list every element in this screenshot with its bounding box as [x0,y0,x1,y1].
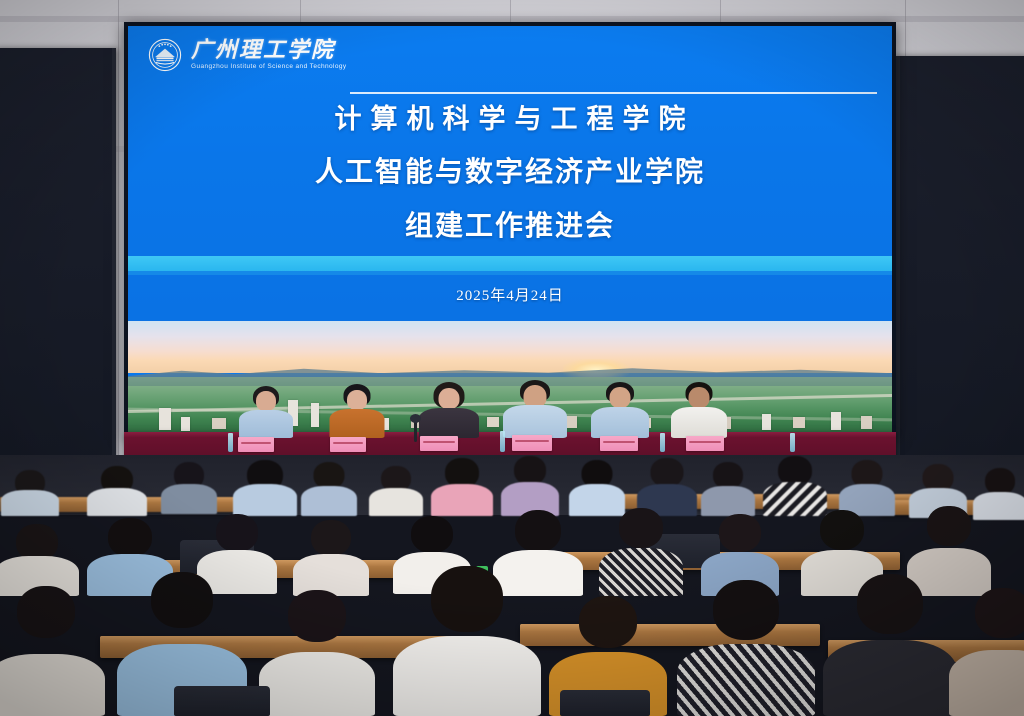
name-placard [330,437,366,452]
university-seal-icon [148,38,182,72]
attendee [0,470,60,516]
name-placard [512,435,552,451]
attendee [300,462,358,516]
panelist-1 [236,386,296,438]
acoustic-panel-right [896,56,1024,460]
attendee [762,456,828,516]
name-placard [420,436,458,451]
name-placard [238,437,274,452]
attendee [392,566,542,716]
attendee [822,574,958,716]
name-placard [600,436,638,451]
attendee [232,460,298,516]
attendee [86,466,148,516]
attendee [368,466,424,516]
water-bottle [660,433,665,452]
slide-title-line-1: 计算机科学与工程学院 [128,97,892,136]
acoustic-panel-left [0,48,116,460]
logo-name-cn: 广州理工学院 [191,39,347,61]
slide-date: 2025年4月24日 [128,284,892,305]
panelist-6 [668,382,730,438]
name-placard [686,436,724,451]
panelist-3 [416,382,482,438]
slide-title-line-2: 人工智能与数字经济产业学院 [128,150,892,190]
water-bottle [790,433,795,452]
attendee [160,462,218,514]
title-divider [350,92,877,94]
attendee [948,588,1024,716]
slide-titles: 计算机科学与工程学院 人工智能与数字经济产业学院 组建工作推进会 [128,97,892,244]
attendee [676,580,816,716]
microphone [414,420,417,442]
logo-name-en: Guangzhou Institute of Science and Techn… [191,64,347,71]
slide-accent-band-secondary [128,271,892,275]
slide-title-line-3: 组建工作推进会 [128,204,892,244]
university-logo: 广州理工学院 Guangzhou Institute of Science an… [148,38,347,72]
presentation-slide: 广州理工学院 Guangzhou Institute of Science an… [128,26,892,433]
attendee [838,460,896,516]
led-screen: 广州理工学院 Guangzhou Institute of Science an… [124,22,896,437]
photo-sky [128,321,892,372]
attendee [430,458,494,516]
water-bottle [228,433,233,452]
microphone-head-icon [410,414,421,423]
panelist-4 [500,380,570,438]
chair [560,690,650,716]
slide-accent-band [128,256,892,271]
water-bottle [500,431,505,452]
attendee [598,508,684,596]
attendee [700,462,756,516]
panelist-5 [588,382,652,438]
attendee [258,590,376,716]
attendee [292,520,370,596]
panelist-2 [327,384,387,438]
attendee [0,586,106,716]
chair [174,686,270,716]
conference-photo: 广州理工学院 Guangzhou Institute of Science an… [0,0,1024,716]
attendee [500,456,560,516]
